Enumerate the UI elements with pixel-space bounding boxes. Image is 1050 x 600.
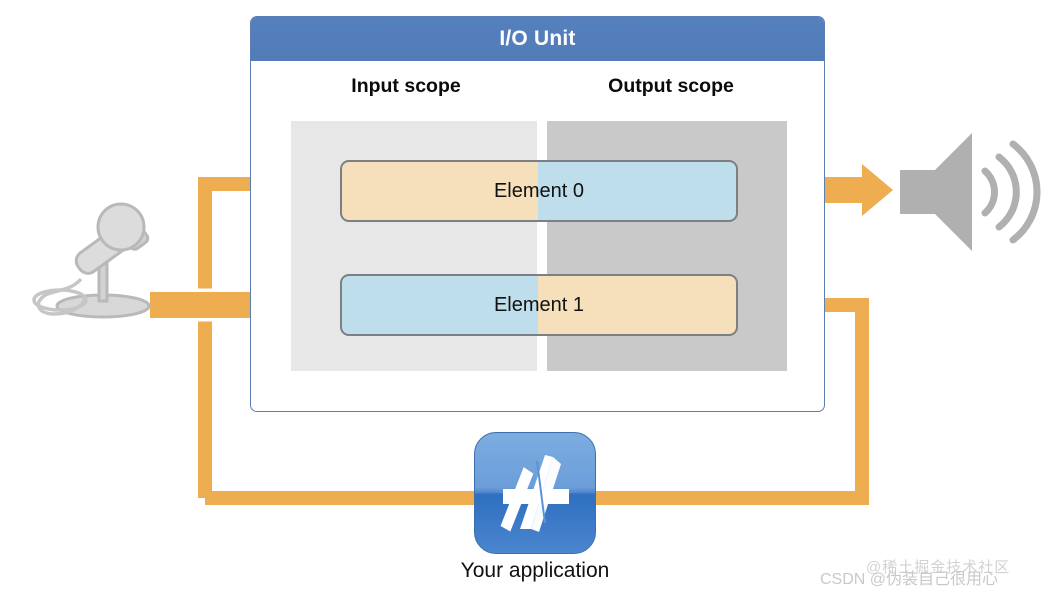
app-store-icon[interactable] bbox=[474, 432, 596, 554]
microphone-icon bbox=[34, 204, 150, 317]
app-icon-glyph bbox=[475, 433, 596, 554]
app-caption: Your application bbox=[389, 559, 681, 583]
speaker-icon bbox=[900, 133, 1037, 251]
element-1-label: Element 1 bbox=[494, 294, 584, 317]
element-0-label: Element 0 bbox=[494, 180, 584, 203]
diagram-canvas: I/O Unit Input scope Output scope Elemen… bbox=[0, 0, 1050, 600]
